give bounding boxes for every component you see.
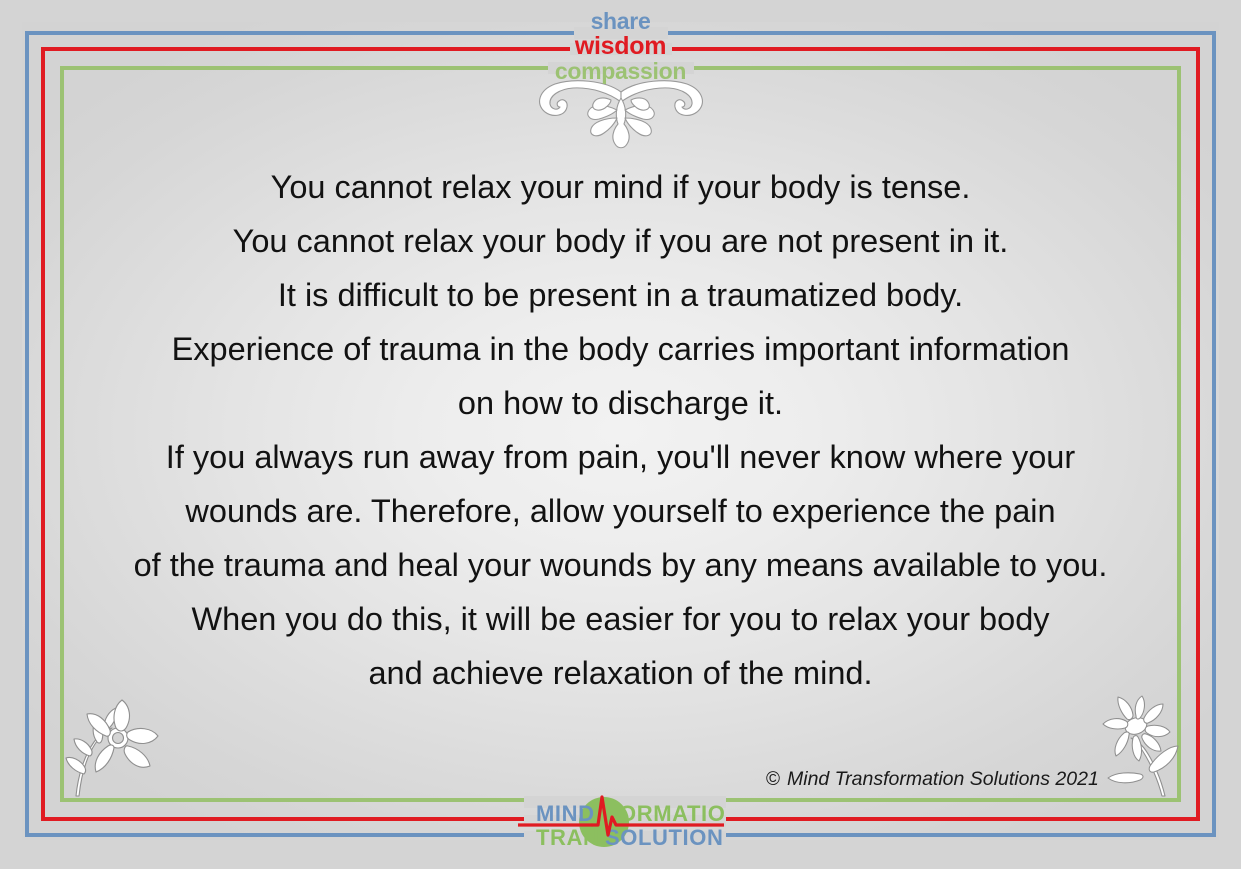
quote-line: If you always run away from pain, you'll… xyxy=(70,430,1171,484)
quote-line: of the trauma and heal your wounds by an… xyxy=(70,538,1171,592)
quote-line: Experience of trauma in the body carries… xyxy=(70,322,1171,376)
poppy-flower-icon xyxy=(62,690,168,803)
flourish-ornament-icon xyxy=(533,74,709,155)
brand-logo: MIND FORMATION TRANS SOLUTIONS xyxy=(518,795,724,856)
tagline-word-wisdom: wisdom xyxy=(0,34,1241,59)
daisy-flower-icon xyxy=(1098,692,1180,803)
logo-word-formation: FORMATION xyxy=(605,801,724,826)
logo-word-trans: TRANS xyxy=(536,825,615,850)
header-tagline: share wisdom compassion xyxy=(0,10,1241,83)
quote-line: When you do this, it will be easier for … xyxy=(70,592,1171,646)
quote-line: on how to discharge it. xyxy=(70,376,1171,430)
quote-line: wounds are. Therefore, allow yourself to… xyxy=(70,484,1171,538)
quote-line: You cannot relax your mind if your body … xyxy=(70,160,1171,214)
tagline-word-share: share xyxy=(0,10,1241,33)
quote-line: and achieve relaxation of the mind. xyxy=(70,646,1171,700)
logo-word-solutions: SOLUTIONS xyxy=(605,825,724,850)
quote-line: You cannot relax your body if you are no… xyxy=(70,214,1171,268)
copyright-notice: © Mind Transformation Solutions 2021 xyxy=(766,768,1099,791)
copyright-icon: © xyxy=(766,770,780,789)
copyright-text: Mind Transformation Solutions 2021 xyxy=(787,768,1099,791)
tagline-word-compassion: compassion xyxy=(0,60,1241,83)
logo-word-mind: MIND xyxy=(536,801,595,826)
poster-root: share wisdom compassion xyxy=(0,0,1241,869)
quote-text-block: You cannot relax your mind if your body … xyxy=(70,160,1171,700)
quote-line: It is difficult to be present in a traum… xyxy=(70,268,1171,322)
